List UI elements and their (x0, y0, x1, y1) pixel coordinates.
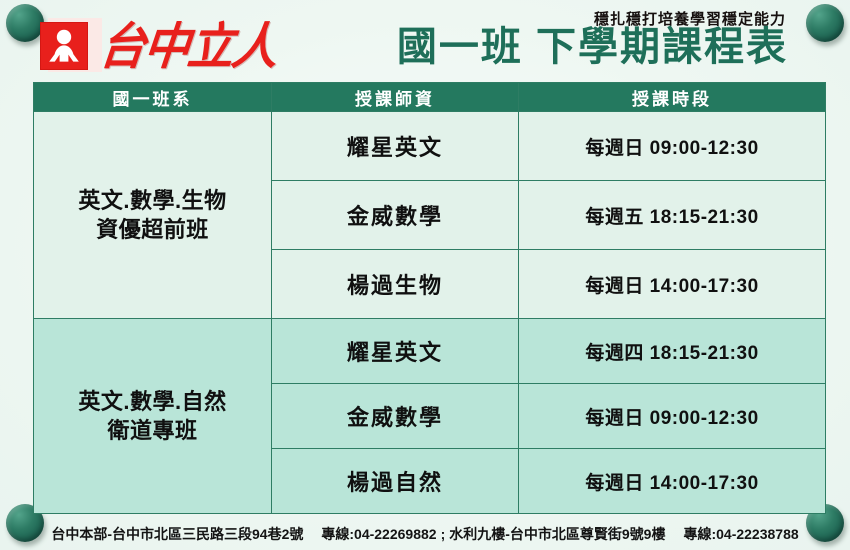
teacher-cell: 楊過自然 (272, 449, 519, 514)
schedule-table-wrapper: 國一班系 授課師資 授課時段 英文.數學.生物 資優超前班 耀星英文 每週日 0… (33, 82, 825, 514)
brand-logo: 台中立人 (40, 22, 276, 70)
time-cell: 每週日 09:00-12:30 (519, 384, 826, 449)
footer-branch-1-phone: 專線:04-22269882 (321, 526, 436, 542)
schedule-table: 國一班系 授課師資 授課時段 英文.數學.生物 資優超前班 耀星英文 每週日 0… (33, 82, 826, 514)
course-schedule-poster: 台中立人 穩扎穩打培養學習穩定能力 國一班 下學期課程表 國一班系 授課師資 授… (0, 0, 850, 550)
time-cell: 每週日 14:00-17:30 (519, 449, 826, 514)
teacher-cell: 金威數學 (272, 181, 519, 250)
person-in-square-icon (40, 22, 88, 70)
group-name-line1: 英文.數學.自然 (34, 387, 271, 416)
time-cell: 每週日 14:00-17:30 (519, 250, 826, 319)
group-name-line2: 資優超前班 (34, 215, 271, 244)
page-title: 國一班 下學期課程表 (397, 24, 788, 70)
group-name-line2: 衛道專班 (34, 416, 271, 445)
teacher-cell: 金威數學 (272, 384, 519, 449)
column-header-class: 國一班系 (34, 83, 272, 112)
brand-name: 台中立人 (97, 21, 278, 71)
footer-branch-2-phone: 專線:04-22238788 (683, 526, 798, 542)
group-name-cell-a: 英文.數學.生物 資優超前班 (34, 112, 272, 319)
column-header-teacher: 授課師資 (272, 83, 519, 112)
table-row: 英文.數學.生物 資優超前班 耀星英文 每週日 09:00-12:30 (34, 112, 826, 181)
time-cell: 每週日 09:00-12:30 (519, 112, 826, 181)
teacher-cell: 耀星英文 (272, 319, 519, 384)
poster-header: 台中立人 穩扎穩打培養學習穩定能力 國一班 下學期課程表 (0, 0, 850, 82)
teacher-cell: 耀星英文 (272, 112, 519, 181)
footer-contact-bar: 台中本部-台中市北區三民路三段94巷2號專線:04-22269882;水利九樓-… (0, 524, 850, 544)
group-name-line1: 英文.數學.生物 (34, 186, 271, 215)
teacher-cell: 楊過生物 (272, 250, 519, 319)
footer-branch-2-address: 水利九樓-台中市北區尊賢街9號9樓 (449, 526, 665, 542)
table-header-row: 國一班系 授課師資 授課時段 (34, 83, 826, 112)
table-row: 英文.數學.自然 衛道專班 耀星英文 每週四 18:15-21:30 (34, 319, 826, 384)
column-header-time: 授課時段 (519, 83, 826, 112)
time-cell: 每週四 18:15-21:30 (519, 319, 826, 384)
group-name-cell-b: 英文.數學.自然 衛道專班 (34, 319, 272, 514)
footer-branch-1-address: 台中本部-台中市北區三民路三段94巷2號 (51, 526, 303, 542)
footer-separator: ; (441, 526, 446, 542)
time-cell: 每週五 18:15-21:30 (519, 181, 826, 250)
